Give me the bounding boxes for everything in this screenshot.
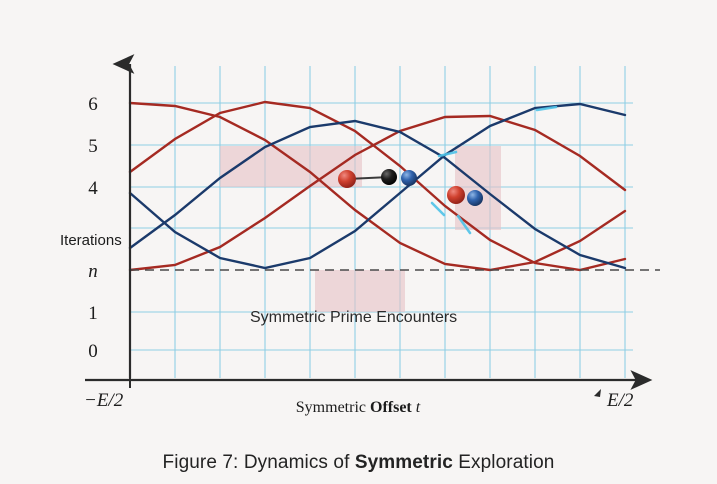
marker-blue-1 bbox=[401, 170, 417, 186]
x-axis-title-plain1: Symmetric bbox=[296, 399, 370, 416]
highlight-lower-center bbox=[315, 270, 405, 312]
y-tick-5: 5 bbox=[88, 136, 98, 157]
figure-caption-bottom: Figure 7: Dynamics of Symmetric Explorat… bbox=[0, 452, 717, 474]
annotation-symmetric-prime-encounters: Symmetric Prime Encounters bbox=[250, 309, 457, 326]
y-tick-1: 1 bbox=[88, 303, 98, 324]
y-tick-n: n bbox=[88, 261, 98, 282]
x-axis-title: Symmetric Offset t bbox=[296, 399, 421, 416]
chart-svg: 6 5 4 n 1 0 Iterations −E/2 E/2 Symmetri… bbox=[0, 0, 717, 440]
x-tick-left: −E/2 bbox=[84, 390, 124, 411]
marker-red-2 bbox=[447, 186, 465, 204]
y-axis-title: Iterations bbox=[60, 232, 122, 249]
y-tick-0: 0 bbox=[88, 341, 98, 362]
x-axis-title-bold: Offset bbox=[370, 399, 412, 416]
marker-red-1 bbox=[338, 170, 356, 188]
marker-black-1 bbox=[381, 169, 397, 185]
caption-bottom-tail: Exploration bbox=[453, 452, 555, 473]
marker-blue-2 bbox=[467, 190, 483, 206]
y-tick-6: 6 bbox=[88, 94, 98, 115]
x-tick-right: E/2 bbox=[606, 390, 634, 411]
x-axis-title-italic: t bbox=[416, 399, 421, 416]
y-tick-4: 4 bbox=[88, 178, 98, 199]
caption-bottom-bold: Symmetric bbox=[355, 452, 453, 473]
chart-figure: 6 5 4 n 1 0 Iterations −E/2 E/2 Symmetri… bbox=[0, 0, 717, 440]
caption-bottom-label: Figure 7: bbox=[163, 452, 239, 473]
caption-bottom-mid: Dynamics of bbox=[238, 452, 354, 473]
